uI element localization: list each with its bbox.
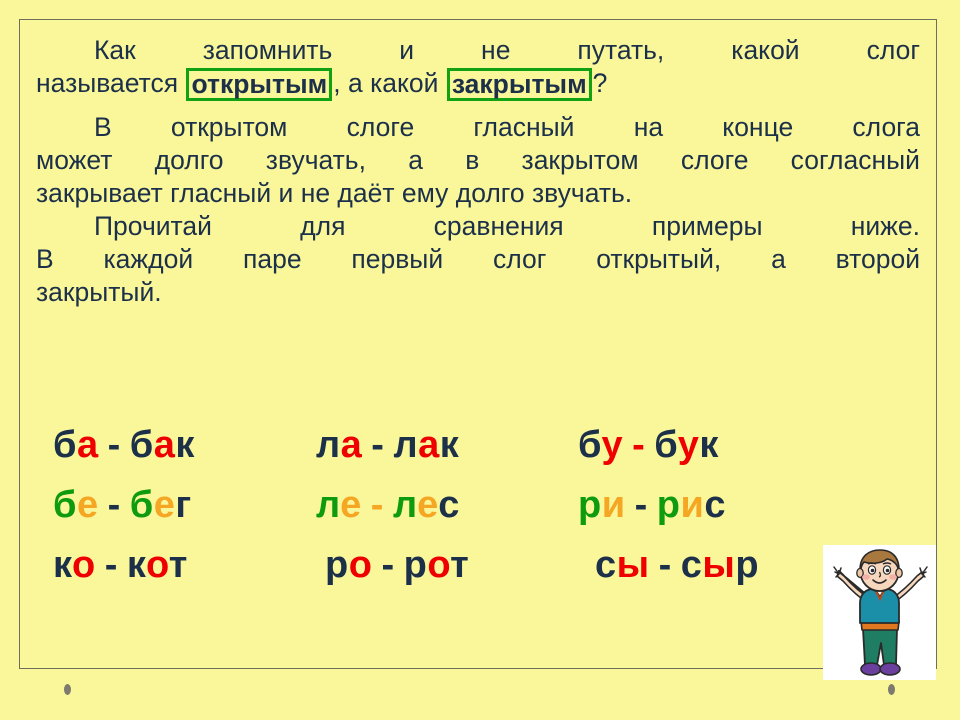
closed-bu-buk-letter-0: б (654, 424, 677, 466)
paragraph-instruction: Прочитай для сравнения примеры ниже. В к… (36, 210, 920, 309)
closed-le-les-letter-0: л (393, 484, 417, 526)
open-ko-kot-letter-0: к (53, 544, 72, 586)
syllable-dash-bu-buk: - (632, 424, 645, 466)
closed-ko-kot-letter-0: к (127, 544, 146, 586)
syllable-dash-ri-ris: - (635, 484, 648, 526)
closed-ba-bak-letter-0: б (130, 424, 154, 466)
paragraph-explanation-line-1: В открытом слоге гласный на конце слога (36, 111, 920, 144)
question-line2-middle: , а какой (333, 68, 446, 98)
open-ba-bak-letter-1: а (77, 424, 99, 466)
closed-syllable-le-les: лес (393, 484, 460, 526)
closed-la-lak-letter-0: л (393, 424, 418, 466)
question-line2-suffix: ? (593, 68, 608, 98)
highlighted-word-closed: закрытым (447, 68, 592, 102)
syllable-pair-sy-syr: сы-сыр (595, 535, 759, 595)
closed-ro-rot-letter-2: т (450, 544, 469, 586)
open-be-beg-letter-1: е (77, 484, 99, 526)
open-ri-ris-letter-0: р (578, 484, 602, 526)
paragraph-explanation: В открытом слоге гласный на конце слога … (36, 111, 920, 210)
open-le-les-letter-1: е (340, 484, 362, 526)
closed-be-beg-letter-2: г (175, 484, 191, 526)
syllable-dash-le-les: - (371, 484, 384, 526)
closed-syllable-ko-kot: кот (127, 544, 188, 586)
open-ko-kot-letter-1: о (72, 544, 96, 586)
syllable-pair-le-les: ле-лес (316, 475, 460, 535)
closed-syllable-ri-ris: рис (657, 484, 726, 526)
closed-ri-ris-letter-2: с (704, 484, 726, 526)
open-sy-syr-letter-1: ы (617, 544, 650, 586)
slide-canvas: Как запомнить и не путать, какой слог на… (0, 0, 960, 720)
closed-ba-bak-letter-1: а (154, 424, 176, 466)
open-syllable-be-beg: бе (53, 484, 99, 526)
open-le-les-letter-0: л (316, 484, 340, 526)
question-line2-prefix: называется (36, 68, 185, 98)
boy-illustration-svg (823, 545, 936, 680)
syllable-pair-ro-rot: ро-рот (325, 535, 469, 595)
closed-la-lak-letter-1: а (418, 424, 440, 466)
closed-syllable-la-lak: лак (393, 424, 459, 466)
syllable-row-3: ко-котро-ротсы-сыр (53, 535, 933, 595)
closed-syllable-ba-bak: бак (130, 424, 195, 466)
syllable-dash-be-beg: - (108, 484, 121, 526)
syllable-row-1: ба-бакла-лакбу-бук (53, 415, 933, 475)
open-syllable-le-les: ле (316, 484, 362, 526)
closed-ri-ris-letter-0: р (657, 484, 681, 526)
closed-syllable-sy-syr: сыр (681, 544, 759, 586)
closed-le-les-letter-1: е (417, 484, 438, 526)
closed-ri-ris-letter-1: и (680, 484, 704, 526)
closed-syllable-be-beg: бег (130, 484, 192, 526)
open-be-beg-letter-0: б (53, 484, 77, 526)
open-la-lak-letter-1: а (341, 424, 363, 466)
open-ba-bak-letter-0: б (53, 424, 77, 466)
open-syllable-ko-kot: ко (53, 544, 96, 586)
open-la-lak-letter-0: л (316, 424, 341, 466)
syllable-dash-ro-rot: - (381, 544, 394, 586)
decorative-dot-right (888, 684, 895, 695)
paragraph-explanation-line-3: закрывает гласный и не даёт ему долго зв… (36, 177, 920, 210)
closed-le-les-letter-2: с (438, 484, 460, 526)
syllable-row-2: бе-бегле-лесри-рис (53, 475, 933, 535)
syllable-pair-ba-bak: ба-бак (53, 415, 195, 475)
closed-bu-buk-letter-1: у (678, 424, 700, 466)
decorative-dot-left (64, 684, 71, 695)
open-syllable-sy-syr: сы (595, 544, 650, 586)
paragraph-question-line-1: Как запомнить и не путать, какой слог (36, 34, 920, 67)
open-ri-ris-letter-1: и (602, 484, 626, 526)
open-syllable-ro-rot: ро (325, 544, 372, 586)
closed-ko-kot-letter-2: т (169, 544, 188, 586)
paragraph-question: Как запомнить и не путать, какой слог на… (36, 34, 920, 100)
closed-la-lak-letter-2: к (440, 424, 460, 466)
paragraph-instruction-line-1: Прочитай для сравнения примеры ниже. (36, 210, 920, 243)
syllable-examples: ба-бакла-лакбу-букбе-бегле-лесри-риско-к… (53, 415, 933, 595)
open-bu-buk-letter-0: б (578, 424, 601, 466)
syllable-pair-la-lak: ла-лак (316, 415, 459, 475)
open-syllable-ri-ris: ри (578, 484, 626, 526)
paragraph-instruction-line-3: закрытый. (36, 276, 920, 309)
syllable-pair-be-beg: бе-бег (53, 475, 192, 535)
boy-illustration (823, 545, 936, 680)
open-ro-rot-letter-1: о (349, 544, 373, 586)
closed-bu-buk-letter-2: к (699, 424, 719, 466)
closed-sy-syr-letter-2: р (735, 544, 759, 586)
closed-ro-rot-letter-1: о (427, 544, 450, 586)
paragraph-explanation-line-2: может долго звучать, а в закрытом слоге … (36, 144, 920, 177)
open-syllable-ba-bak: ба (53, 424, 99, 466)
paragraph-instruction-line-2: В каждой паре первый слог открытый, а вт… (36, 243, 920, 276)
open-syllable-bu-buk: бу (578, 424, 623, 466)
closed-be-beg-letter-0: б (130, 484, 154, 526)
syllable-pair-ko-kot: ко-кот (53, 535, 188, 595)
syllable-dash-sy-syr: - (659, 544, 672, 586)
open-syllable-la-lak: ла (316, 424, 362, 466)
syllable-dash-ko-kot: - (105, 544, 118, 586)
closed-syllable-ro-rot: рот (404, 544, 470, 586)
closed-sy-syr-letter-0: с (681, 544, 703, 586)
syllable-pair-ri-ris: ри-рис (578, 475, 726, 535)
closed-sy-syr-letter-1: ы (702, 544, 735, 586)
closed-ko-kot-letter-1: о (146, 544, 169, 586)
closed-be-beg-letter-1: е (154, 484, 176, 526)
open-ro-rot-letter-0: р (325, 544, 349, 586)
syllable-dash-ba-bak: - (108, 424, 121, 466)
closed-syllable-bu-buk: бук (654, 424, 719, 466)
syllable-pair-bu-buk: бу-бук (578, 415, 719, 475)
closed-ba-bak-letter-2: к (175, 424, 195, 466)
closed-ro-rot-letter-0: р (404, 544, 428, 586)
open-bu-buk-letter-1: у (601, 424, 623, 466)
highlighted-word-open: открытым (186, 68, 332, 102)
syllable-dash-la-lak: - (371, 424, 384, 466)
content-frame: Как запомнить и не путать, какой слог на… (19, 19, 937, 669)
paragraph-question-line-2: называется открытым, а какой закрытым? (36, 67, 920, 101)
open-sy-syr-letter-0: с (595, 544, 617, 586)
